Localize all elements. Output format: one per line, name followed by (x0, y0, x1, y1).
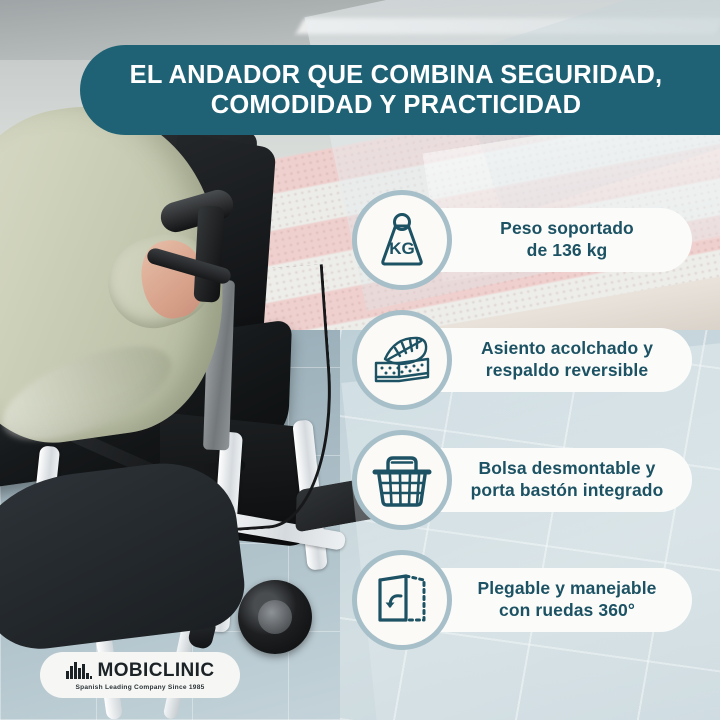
header-title: EL ANDADOR QUE COMBINA SEGURIDAD, COMODI… (86, 60, 706, 120)
weight-kg-icon: KG (352, 190, 452, 290)
feature-item-foldable: Plegable y manejable con ruedas 360° (352, 550, 700, 670)
header-title-line-1: EL ANDADOR QUE COMBINA SEGURIDAD, (130, 61, 663, 89)
brand-logo: MOBICLINIC Spanish Leading Company Since… (40, 652, 240, 698)
user-trousers (0, 455, 249, 655)
infographic-canvas: EL ANDADOR QUE COMBINA SEGURIDAD, COMODI… (0, 0, 720, 720)
walker-wheel-hub (258, 600, 292, 634)
feature-text-line-2: porta bastón integrado (471, 480, 664, 502)
cushioned-seat-feather-icon (352, 310, 452, 410)
feature-item-basket: Bolsa desmontable y porta bastón integra… (352, 430, 700, 550)
shopping-basket-icon (352, 430, 452, 530)
logo-wordmark: MOBICLINIC (98, 660, 215, 682)
feature-text-line-2: de 136 kg (500, 240, 634, 262)
weight-icon-label: KG (389, 239, 415, 258)
foldable-rotate-icon (352, 550, 452, 650)
logo-tagline: Spanish Leading Company Since 1985 (75, 684, 204, 691)
feature-text-line-1: Bolsa desmontable y (471, 458, 664, 480)
feature-text-line-1: Plegable y manejable (477, 578, 656, 600)
feature-text-line-1: Peso soportado (500, 218, 634, 240)
logo-row: MOBICLINIC (66, 660, 215, 682)
feature-text: Peso soportado de 136 kg (466, 218, 634, 262)
feature-list: Peso soportado de 136 kg KG Asiento acol… (352, 190, 700, 670)
feature-text-line-2: con ruedas 360° (477, 600, 656, 622)
feature-item-weight: Peso soportado de 136 kg KG (352, 190, 700, 310)
header-title-line-2: COMODIDAD Y PRACTICIDAD (86, 90, 706, 120)
header-banner: EL ANDADOR QUE COMBINA SEGURIDAD, COMODI… (80, 45, 720, 135)
feature-text-line-2: respaldo reversible (481, 360, 653, 382)
feature-text: Bolsa desmontable y porta bastón integra… (437, 458, 664, 502)
feature-text-line-1: Asiento acolchado y (481, 338, 653, 360)
feature-item-seat: Asiento acolchado y respaldo reversible (352, 310, 700, 430)
feature-text: Asiento acolchado y respaldo reversible (447, 338, 653, 382)
walker-grip-stem (194, 205, 225, 302)
bars-logo-icon (66, 662, 92, 679)
feature-text: Plegable y manejable con ruedas 360° (443, 578, 656, 622)
